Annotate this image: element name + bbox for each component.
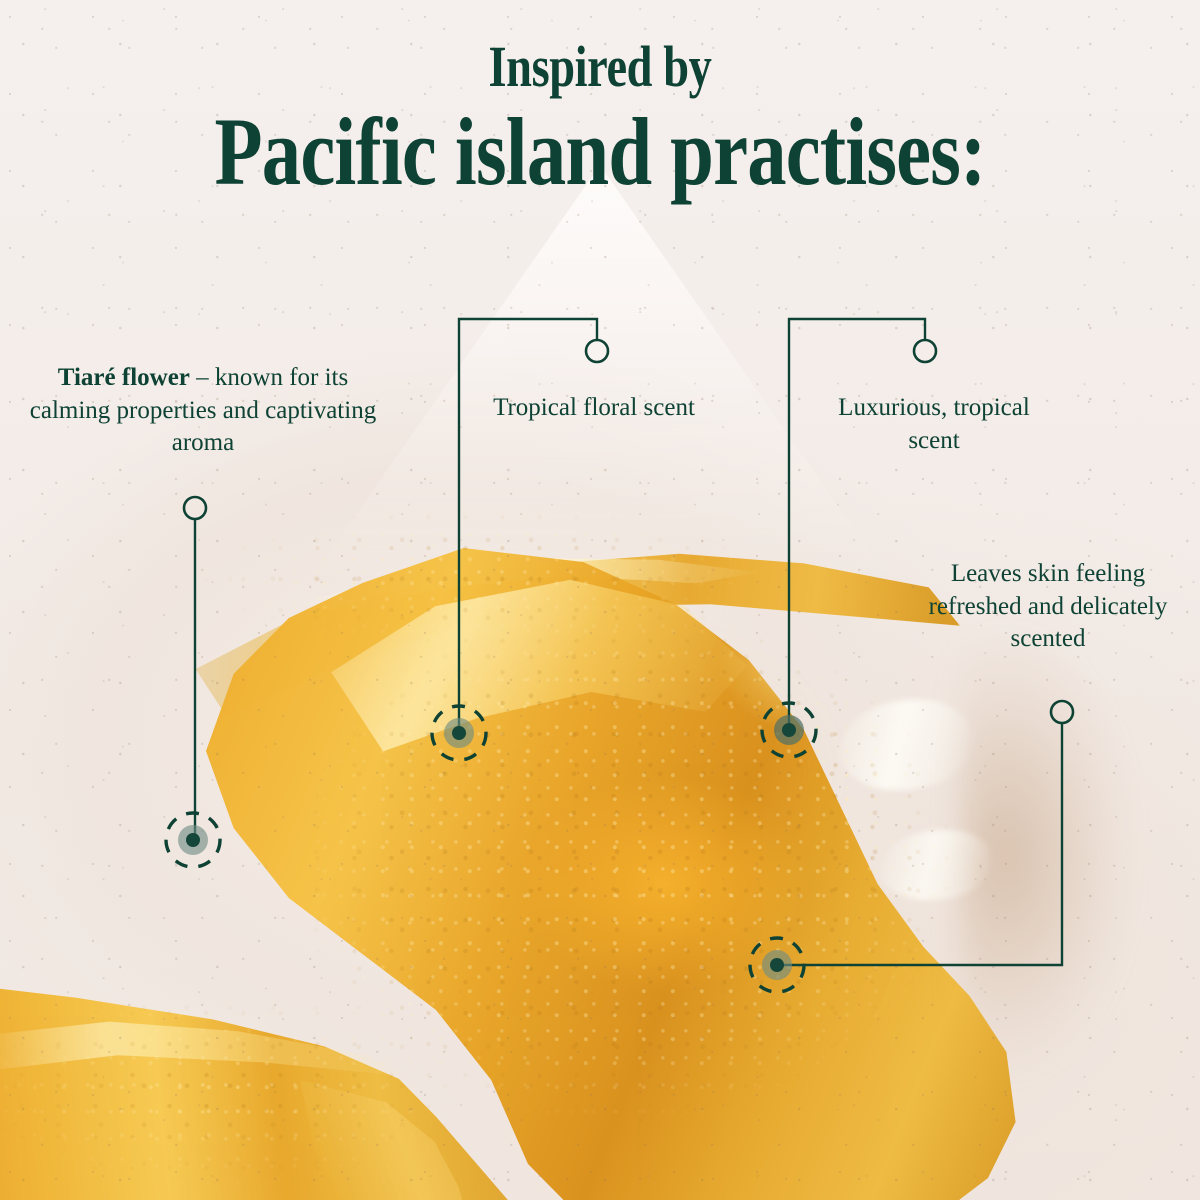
- page-title-line-1: Inspired by: [120, 0, 1080, 96]
- callout-label-tiare-flower: Tiaré flower – known for its calming pro…: [18, 362, 388, 460]
- page-title-line-2: Pacific island practises:: [108, 104, 1092, 200]
- infographic-canvas: Inspired by Pacific island practises:: [0, 0, 1200, 1200]
- callout-label-tiare-flower-lead: Tiaré flower: [58, 364, 190, 391]
- page-title: Inspired by Pacific island practises:: [0, 0, 1200, 200]
- callout-label-luxurious-tropical-scent: Luxurious, tropical scent: [824, 392, 1044, 457]
- callout-label-leaves-skin-refreshed: Leaves skin feeling refreshed and delica…: [912, 558, 1184, 656]
- callout-label-tropical-floral-scent: Tropical floral scent: [484, 392, 704, 425]
